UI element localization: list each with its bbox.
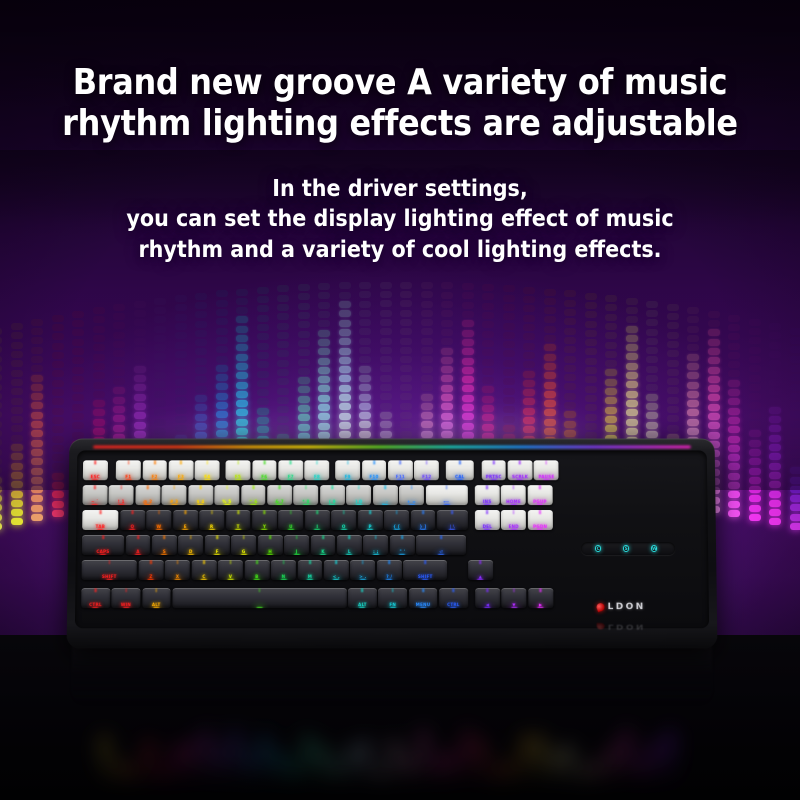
key-r[interactable]: R [199, 510, 224, 530]
equalizer-bar [708, 422, 720, 429]
key-f10[interactable]: F10 [362, 460, 387, 480]
equalizer-bar [462, 376, 474, 383]
equalizer-bar [216, 374, 228, 381]
equalizer-bar [257, 352, 269, 359]
equalizer-bar [544, 419, 556, 426]
key-f1[interactable]: F1 [116, 460, 141, 480]
equalizer-bar [318, 339, 330, 346]
key-t[interactable]: T [226, 510, 251, 530]
equalizer-bar [216, 309, 228, 316]
key-menu[interactable]: MENU [409, 588, 438, 608]
equalizer-bar [134, 310, 146, 317]
equalizer-bar [0, 356, 2, 363]
equalizer-bar [11, 472, 23, 479]
key-fn[interactable]: FN [378, 588, 407, 608]
equalizer-bar [154, 428, 166, 435]
equalizer-bar [298, 377, 310, 384]
equalizer-bar [790, 374, 800, 381]
switch-light-column [332, 485, 334, 489]
equalizer-bar [195, 376, 207, 383]
key-backlight-led [477, 579, 483, 581]
equalizer-bar [11, 509, 23, 516]
key-backlight-led [209, 529, 215, 530]
equalizer-bar [400, 356, 412, 363]
equalizer-bar [544, 298, 556, 305]
key-[interactable]: _ - [373, 485, 398, 505]
equalizer-bar [605, 323, 617, 330]
key-alt[interactable]: ALT [348, 588, 377, 608]
equalizer-bar [728, 408, 740, 415]
equalizer-bar [236, 428, 248, 435]
key-scrlk[interactable]: SCRLK [508, 460, 533, 480]
equalizer-bar [564, 393, 576, 400]
key-shift[interactable]: SHIFT [403, 560, 447, 580]
switch-light-column [519, 460, 521, 464]
equalizer-bar [667, 378, 679, 385]
switch-light-column [147, 485, 149, 489]
key-backlight-led [450, 607, 456, 609]
equalizer-bar [31, 449, 43, 456]
equalizer-bar [31, 468, 43, 475]
key-shift[interactable]: SHIFT [82, 560, 138, 580]
key-backlight-led [235, 479, 241, 480]
key-f3[interactable]: F3 [169, 460, 194, 480]
equalizer-bar [380, 347, 392, 354]
switch-light-column [203, 560, 205, 564]
equalizer-bar [585, 358, 597, 365]
key-[interactable]: < , [324, 560, 349, 580]
key-backlight-led [118, 504, 124, 505]
key-f11[interactable]: F11 [388, 460, 413, 480]
equalizer-bar [421, 394, 433, 401]
key-cal[interactable]: CAL [445, 460, 474, 480]
key-space[interactable] [172, 588, 346, 608]
key-k[interactable]: K [311, 535, 336, 555]
key-ctrl[interactable]: CTRL [81, 588, 110, 608]
equalizer-bar [298, 414, 310, 421]
key-backlight-led [314, 479, 320, 480]
equalizer-bar [544, 372, 556, 379]
key-home[interactable]: HOME [501, 485, 526, 505]
switch-light-column [440, 535, 442, 539]
switch-light-column [237, 460, 239, 464]
equalizer-bar [421, 310, 433, 317]
equalizer-bar [0, 439, 2, 446]
equalizer-bar [769, 407, 781, 414]
reflection-streak [347, 745, 356, 783]
equalizer-bar [769, 323, 781, 330]
key-y[interactable]: Y [252, 510, 277, 530]
equalizer-bar [749, 477, 761, 484]
key-end[interactable]: END [501, 510, 526, 530]
equalizer-bar [93, 428, 105, 435]
equalizer-bar [728, 343, 740, 350]
equalizer-bar [380, 291, 392, 298]
key-f8[interactable]: F8 [305, 460, 330, 480]
switch-light-column [392, 588, 394, 592]
equalizer-bar [31, 375, 43, 382]
equalizer-bar [52, 398, 64, 405]
equalizer-bar [318, 358, 330, 365]
equalizer-bar [421, 291, 433, 298]
equalizer-bar [236, 298, 248, 305]
equalizer-bar [462, 339, 474, 346]
equalizer-bar [175, 425, 187, 432]
equalizer-bar [790, 346, 800, 353]
equalizer-bar [93, 400, 105, 407]
key-backlight-led [97, 529, 103, 530]
equalizer-bar [646, 394, 658, 401]
equalizer-bar [790, 504, 800, 511]
equalizer-bar [667, 350, 679, 357]
equalizer-bar [503, 313, 515, 320]
key-backlight-led [92, 479, 98, 480]
equalizer-bar [482, 359, 494, 366]
equalizer-bar [175, 360, 187, 367]
reflection-streak [144, 740, 153, 783]
equalizer-bar [523, 361, 535, 368]
equalizer-bar [421, 338, 433, 345]
key-a[interactable]: A [125, 535, 150, 555]
equalizer-bar [400, 347, 412, 354]
equalizer-bar [31, 495, 43, 502]
equalizer-bar [441, 422, 453, 429]
equalizer-bar [728, 324, 740, 331]
key-f4[interactable]: F4 [195, 460, 220, 480]
equalizer-bar [646, 366, 658, 373]
switch-light-column [362, 588, 364, 592]
key-4[interactable]: $ 4 [188, 485, 213, 505]
equalizer-bar [257, 389, 269, 396]
equalizer-bar [728, 380, 740, 387]
equalizer-bar [585, 321, 597, 328]
equalizer-bar [769, 351, 781, 358]
equalizer-bar [523, 324, 535, 331]
key-j[interactable]: J [284, 535, 309, 555]
equalizer-bar [400, 291, 412, 298]
equalizer-bar [462, 358, 474, 365]
key-backlight-led [197, 504, 203, 505]
key-[interactable]: > . [350, 560, 375, 580]
reflection-streak [477, 740, 486, 783]
key-pause[interactable]: PAUSE [534, 460, 559, 480]
reflection-streak [332, 760, 341, 783]
switch-light-column [486, 485, 488, 489]
key-ctrl[interactable]: CTRL [439, 588, 468, 608]
equalizer-bar [626, 307, 638, 314]
key-l[interactable]: L [337, 535, 362, 555]
reflection-streak [637, 755, 646, 783]
equalizer-bar [564, 300, 576, 307]
key-[interactable]: { [ [384, 510, 409, 530]
key-f2[interactable]: F2 [142, 460, 167, 480]
key-5[interactable]: % 5 [214, 485, 239, 505]
key-m[interactable]: M [297, 560, 322, 580]
equalizer-bar [585, 367, 597, 374]
equalizer-bar [564, 318, 576, 325]
equalizer-bar [523, 305, 535, 312]
reflection-streak [318, 745, 327, 783]
equalizer-bar [298, 386, 310, 393]
equalizer-bar [400, 393, 412, 400]
switch-light-column [446, 485, 448, 489]
reflection-streak [115, 760, 124, 783]
key-z[interactable]: Z [139, 560, 164, 580]
key-[interactable]: ~ ` [83, 485, 108, 505]
key-[interactable]: ? / [377, 560, 402, 580]
key-7[interactable]: & 7 [267, 485, 292, 505]
key-f[interactable]: F [205, 535, 230, 555]
equalizer-bar [298, 284, 310, 291]
key-esc[interactable]: ESC [83, 460, 108, 480]
equalizer-bar [339, 403, 351, 410]
key-8[interactable]: * 8 [294, 485, 319, 505]
equalizer-bar [134, 347, 146, 354]
equalizer-bar [441, 357, 453, 364]
equalizer-bar [93, 326, 105, 333]
equalizer-bar [0, 430, 2, 437]
key-backlight-led [277, 504, 283, 505]
reflection-streak [593, 760, 602, 783]
equalizer-bar [400, 365, 412, 372]
reflection-streak [303, 735, 312, 783]
key-pgdn[interactable]: PGDN [528, 510, 553, 530]
key-f5[interactable]: F5 [226, 460, 251, 480]
equalizer-bar [52, 454, 64, 461]
equalizer-bar [380, 384, 392, 391]
key-3[interactable]: # 3 [162, 485, 187, 505]
equalizer-bar [0, 449, 2, 456]
key-p[interactable]: P [358, 510, 383, 530]
equalizer-bar [482, 331, 494, 338]
key-right[interactable]: ▶ [528, 588, 553, 608]
key-o[interactable]: O [331, 510, 356, 530]
switch-light-column [309, 560, 311, 564]
equalizer-bar [749, 402, 761, 409]
equalizer-bar [605, 416, 617, 423]
reflection-streak [535, 735, 544, 783]
switch-light-column [154, 460, 156, 464]
key-backlight-led [288, 529, 294, 530]
equalizer-bar [769, 360, 781, 367]
key-n[interactable]: N [271, 560, 296, 580]
equalizer-bar [462, 311, 474, 318]
equalizer-bar [462, 348, 474, 355]
reflection-streak [651, 740, 660, 783]
equalizer-bar [0, 467, 2, 474]
equalizer-bar [482, 405, 494, 412]
key-h[interactable]: H [258, 535, 283, 555]
equalizer-bar [790, 328, 800, 335]
key-f7[interactable]: F7 [278, 460, 303, 480]
equalizer-bar [749, 495, 761, 502]
equalizer-bar [318, 348, 330, 355]
key-s[interactable]: S [152, 535, 177, 555]
equalizer-bar [0, 477, 2, 484]
key-prtsc[interactable]: PRTSC [481, 460, 506, 480]
equalizer-bar [298, 312, 310, 319]
key-tab[interactable]: TAB [82, 510, 118, 530]
key-up[interactable]: ▲ [468, 560, 493, 580]
equalizer-bar [216, 346, 228, 353]
key-backlight-led [373, 553, 379, 555]
equalizer-bar [277, 332, 289, 339]
equalizer-bar [11, 500, 23, 507]
key-left[interactable]: ◀ [475, 588, 500, 608]
switch-light-column [384, 485, 386, 489]
key-g[interactable]: G [231, 535, 256, 555]
key-w[interactable]: W [146, 510, 171, 530]
switch-light-column [279, 485, 281, 489]
key-del[interactable]: DEL [475, 510, 500, 530]
reflection-streak [260, 735, 269, 783]
key-[interactable]: " ' [390, 535, 415, 555]
key-f9[interactable]: F9 [335, 460, 360, 480]
equalizer-bar [72, 367, 84, 374]
equalizer-bar [421, 347, 433, 354]
equalizer-bar [462, 292, 474, 299]
key-backspace[interactable]: ⟵ [425, 485, 467, 505]
key-v[interactable]: V [218, 560, 243, 580]
equalizer-bar [564, 346, 576, 353]
equalizer-bar [790, 449, 800, 456]
equalizer-bar [113, 341, 125, 348]
equalizer-bar [503, 332, 515, 339]
key-0[interactable]: ) 0 [346, 485, 371, 505]
key-q[interactable]: Q [120, 510, 145, 530]
key-backlight-led [485, 607, 491, 609]
equalizer-bar [175, 388, 187, 395]
equalizer-bar [585, 423, 597, 430]
key-u[interactable]: U [279, 510, 304, 530]
mechanical-keyboard[interactable]: ESCF1F2F3F4F5F6F7F8F9F10F11F12CALPRTSCSC… [68, 438, 716, 648]
equalizer-bar [318, 330, 330, 337]
equalizer-bar [769, 481, 781, 488]
key-c[interactable]: C [192, 560, 217, 580]
equalizer-bar [749, 505, 761, 512]
equalizer-bar [523, 296, 535, 303]
key-[interactable]: : ; [363, 535, 388, 555]
key-d[interactable]: D [178, 535, 203, 555]
key-down[interactable]: ▼ [502, 588, 527, 608]
equalizer-bar [113, 415, 125, 422]
switch-light-column [513, 485, 515, 489]
key-x[interactable]: X [165, 560, 190, 580]
equalizer-bar [380, 319, 392, 326]
headline-line-1: Brand new groove A variety of music [0, 62, 800, 103]
equalizer-bar [626, 353, 638, 360]
key-e[interactable]: E [173, 510, 198, 530]
key-1[interactable]: ! 1 [109, 485, 134, 505]
equalizer-bar [175, 332, 187, 339]
promo-banner: Brand new groove A variety of music rhyt… [0, 0, 800, 800]
equalizer-bar [708, 348, 720, 355]
equalizer-bar [421, 301, 433, 308]
key-b[interactable]: B [244, 560, 269, 580]
equalizer-bar [728, 473, 740, 480]
equalizer-bar [503, 295, 515, 302]
equalizer-bar [749, 319, 761, 326]
key-backlight-led [288, 479, 294, 480]
switch-light-column [373, 460, 375, 464]
key-[interactable]: + = [399, 485, 424, 505]
key-caps[interactable]: CAPS [82, 535, 124, 555]
key-2[interactable]: @ 2 [135, 485, 160, 505]
equalizer-bar [11, 425, 23, 432]
key-[interactable]: } ] [411, 510, 436, 530]
equalizer-bar [298, 368, 310, 375]
key-alt[interactable]: ALT [142, 588, 171, 608]
key-win[interactable]: WIN [111, 588, 140, 608]
equalizer-bar [175, 397, 187, 404]
equalizer-bar [380, 412, 392, 419]
equalizer-bar [113, 313, 125, 320]
equalizer-bar [769, 500, 781, 507]
equalizer-bar [790, 523, 800, 530]
equalizer-bar [564, 337, 576, 344]
reflection-streak [187, 740, 196, 783]
equalizer-bar [359, 319, 371, 326]
key-ins[interactable]: INS [475, 485, 500, 505]
equalizer-bar [544, 382, 556, 389]
equalizer-bar [359, 403, 371, 410]
equalizer-bar [0, 411, 2, 418]
equalizer-bar [769, 444, 781, 451]
equalizer-bar [52, 510, 64, 517]
key-backlight-led [171, 504, 177, 505]
equalizer-bar [421, 366, 433, 373]
equalizer-bar [749, 514, 761, 521]
equalizer-bar [359, 431, 371, 438]
key-f6[interactable]: F6 [252, 460, 277, 480]
equalizer-bar [339, 329, 351, 336]
equalizer-bar [257, 305, 269, 312]
equalizer-bar [708, 329, 720, 336]
equalizer-bar [421, 403, 433, 410]
equalizer-bar [769, 435, 781, 442]
equalizer-bar [72, 329, 84, 336]
key-9[interactable]: ( 9 [320, 485, 345, 505]
equalizer-bar [154, 316, 166, 323]
equalizer-bar [72, 413, 84, 420]
equalizer-bar [52, 445, 64, 452]
equalizer-bar [503, 360, 515, 367]
key-f12[interactable]: F12 [414, 460, 439, 480]
switch-light-column [200, 485, 202, 489]
key-pgup[interactable]: PGUP [527, 485, 552, 505]
equalizer-bar [421, 328, 433, 335]
equalizer-bar [318, 302, 330, 309]
key-i[interactable]: I [305, 510, 330, 530]
key-enter[interactable]: ⏎ [416, 535, 466, 555]
equalizer-bar [359, 338, 371, 345]
key-6[interactable]: ^ 6 [241, 485, 266, 505]
equalizer-bar [749, 430, 761, 437]
key-backlight-led [371, 479, 377, 480]
equalizer-bar [236, 354, 248, 361]
equalizer-bar [257, 380, 269, 387]
equalizer-bar [687, 363, 699, 370]
switch-light-column [362, 560, 364, 564]
equalizer-bar [708, 376, 720, 383]
subtitle-line-3: rhythm and a variety of cool lighting ef… [0, 235, 800, 266]
equalizer-bar [790, 495, 800, 502]
key-[interactable]: | \ [437, 510, 468, 530]
equalizer-bar [154, 363, 166, 370]
equalizer-bar [523, 343, 535, 350]
equalizer-bar [564, 290, 576, 297]
equalizer-bar [462, 283, 474, 290]
